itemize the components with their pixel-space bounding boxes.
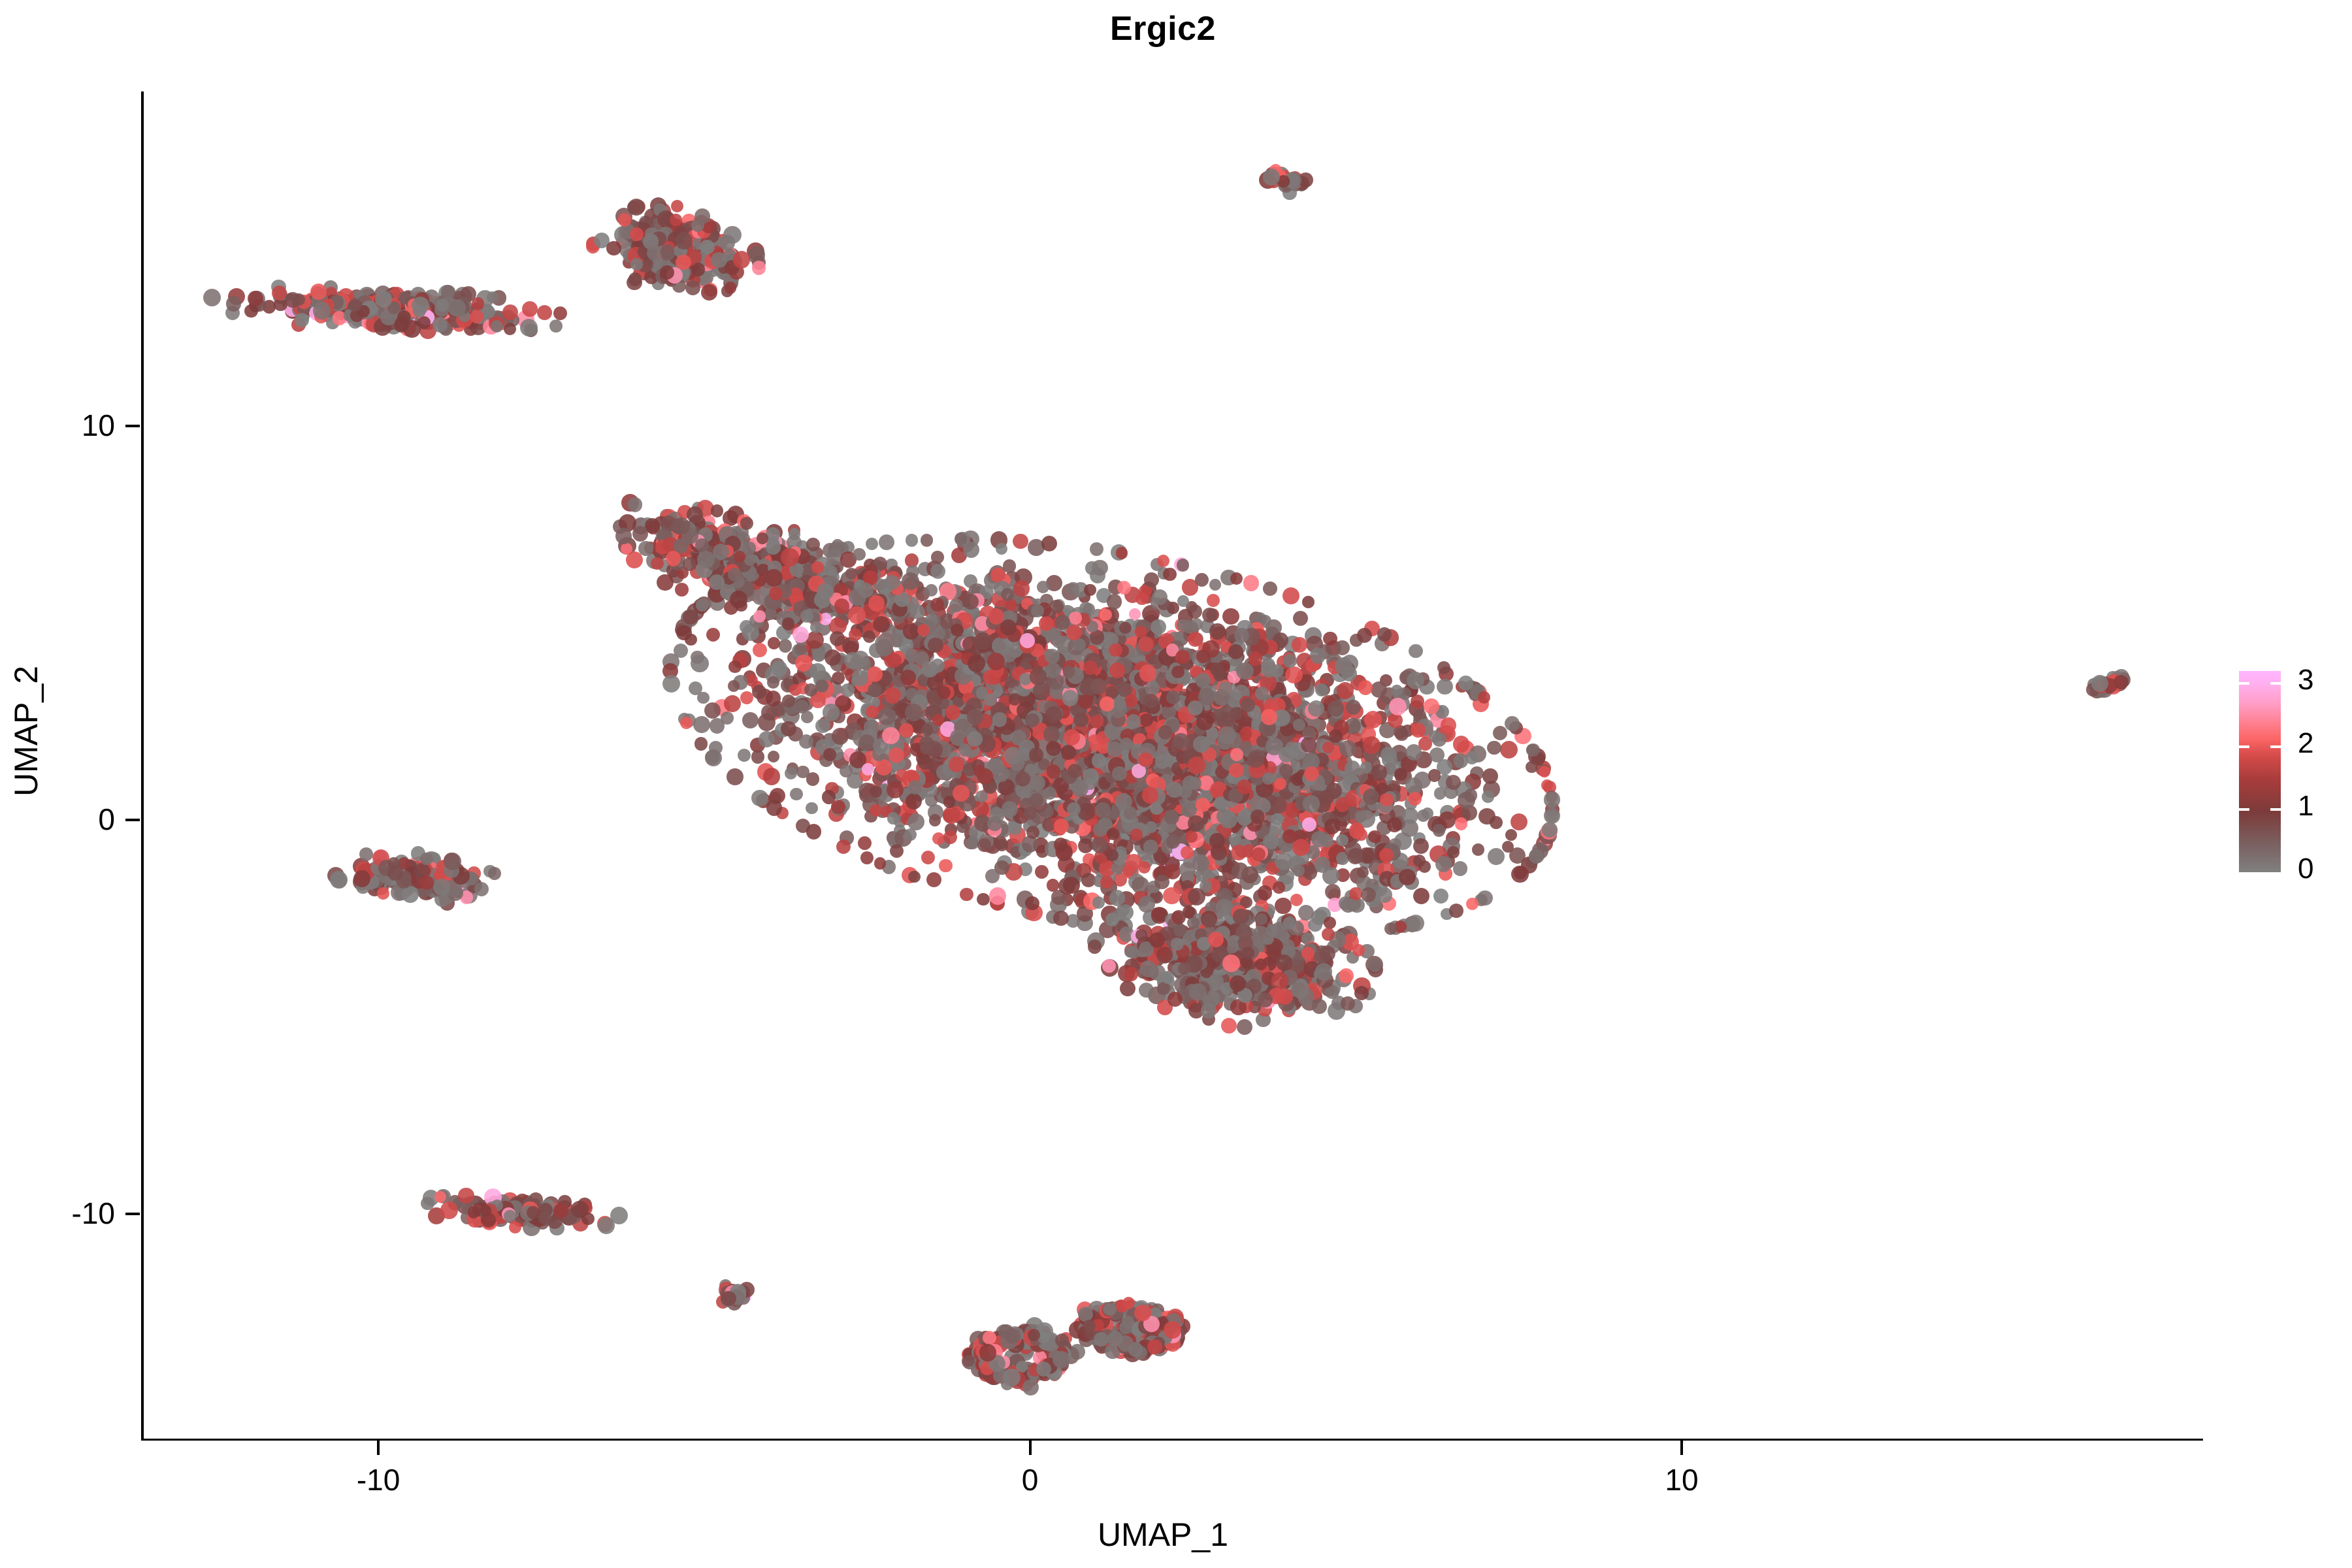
scatter-point	[960, 888, 973, 902]
scatter-point	[840, 764, 853, 777]
scatter-point	[1092, 837, 1108, 853]
scatter-point	[1114, 698, 1126, 710]
scatter-point	[751, 750, 764, 763]
scatter-point	[1337, 682, 1354, 699]
scatter-point	[1142, 787, 1158, 803]
scatter-point	[1341, 898, 1356, 913]
scatter-point	[792, 627, 809, 643]
scatter-point	[1488, 848, 1505, 865]
scatter-point	[836, 840, 851, 854]
scatter-point	[752, 261, 766, 274]
scatter-point	[1279, 764, 1293, 777]
scatter-point	[1078, 838, 1093, 853]
scatter-point	[711, 252, 727, 268]
scatter-point	[1220, 811, 1237, 828]
scatter-point	[1117, 904, 1134, 921]
scatter-point	[977, 893, 989, 906]
scatter-point	[1402, 808, 1418, 824]
scatter-point	[630, 258, 643, 270]
scatter-point	[953, 785, 970, 802]
scatter-point	[1109, 890, 1125, 906]
scatter-point	[938, 686, 951, 699]
scatter-point	[1228, 644, 1243, 659]
scatter-point	[725, 282, 737, 294]
scatter-point	[1164, 809, 1179, 824]
scatter-point	[693, 716, 710, 733]
scatter-point	[1013, 534, 1028, 549]
scatter-point	[1049, 600, 1064, 614]
scatter-point	[926, 872, 941, 887]
scatter-point	[1100, 609, 1111, 621]
scatter-point	[1542, 822, 1558, 838]
scatter-point	[987, 653, 1005, 670]
scatter-point	[1380, 793, 1394, 807]
scatter-point	[1453, 861, 1467, 875]
scatter-point	[706, 628, 720, 642]
scatter-point	[1130, 828, 1143, 841]
scatter-point	[448, 299, 466, 317]
scatter-point	[1043, 726, 1060, 743]
scatter-point	[862, 763, 874, 776]
scatter-point	[412, 297, 429, 314]
scatter-point	[1152, 589, 1168, 605]
scatter-point	[987, 816, 1002, 831]
scatter-point	[1236, 662, 1253, 679]
scatter-point	[1437, 679, 1453, 695]
scatter-point	[949, 757, 964, 772]
scatter-point	[1447, 846, 1460, 858]
scatter-point	[1424, 698, 1439, 714]
scatter-point	[1311, 831, 1328, 847]
scatter-point	[1345, 760, 1361, 777]
scatter-point	[904, 828, 917, 841]
scatter-point	[1399, 869, 1415, 885]
scatter-point	[1283, 654, 1296, 667]
scatter-point	[1368, 830, 1380, 843]
scatter-point	[671, 200, 683, 212]
scatter-point	[1455, 817, 1468, 830]
scatter-point	[1472, 843, 1484, 856]
scatter-point	[1363, 736, 1380, 754]
scatter-point	[1505, 829, 1517, 841]
scatter-point	[1009, 693, 1021, 705]
scatter-point	[766, 691, 781, 706]
scatter-point	[1163, 887, 1180, 904]
scatter-point	[676, 625, 692, 641]
scatter-point	[1487, 741, 1501, 755]
scatter-point	[1408, 792, 1422, 806]
scatter-point	[1109, 662, 1125, 678]
scatter-point	[1092, 896, 1105, 909]
scatter-point	[890, 844, 904, 858]
scatter-point	[879, 534, 894, 550]
scatter-point	[1302, 817, 1316, 832]
scatter-point	[1041, 536, 1057, 551]
scatter-point	[1025, 896, 1039, 910]
scatter-point	[1335, 640, 1350, 655]
scatter-point	[823, 748, 836, 761]
scatter-point	[1202, 608, 1217, 623]
scatter-point	[1511, 813, 1527, 830]
scatter-point	[1222, 608, 1239, 625]
scatter-point	[1000, 619, 1017, 636]
scatter-point	[1360, 761, 1373, 774]
scatter-point	[1209, 579, 1221, 591]
scatter-point	[925, 584, 938, 596]
scatter-point	[763, 768, 780, 785]
scatter-point	[967, 709, 983, 725]
scatter-point	[889, 747, 904, 763]
scatter-point	[1229, 763, 1243, 777]
scatter-point	[1037, 581, 1049, 593]
scatter-point	[1047, 764, 1061, 779]
scatter-point	[1031, 604, 1044, 617]
scatter-point	[1293, 611, 1308, 626]
scatter-point	[395, 316, 410, 331]
scatter-point	[1232, 862, 1249, 879]
scatter-point	[1308, 700, 1324, 717]
scatter-point	[1292, 637, 1307, 653]
scatter-point	[1324, 819, 1340, 834]
scatter-point	[1035, 865, 1049, 879]
scatter-point	[1154, 875, 1169, 890]
scatter-point	[921, 534, 933, 546]
scatter-point	[727, 768, 743, 785]
scatter-point	[1188, 757, 1205, 774]
scatter-point	[1357, 866, 1369, 878]
scatter-point	[417, 316, 430, 329]
scatter-point	[292, 293, 305, 306]
scatter-point	[618, 213, 632, 227]
scatter-point	[1185, 830, 1198, 843]
scatter-point	[1302, 596, 1315, 608]
scatter-point	[928, 638, 943, 653]
scatter-point	[1329, 729, 1343, 743]
scatter-point	[1263, 581, 1277, 596]
scatter-point	[849, 629, 861, 641]
scatter-point	[1446, 775, 1461, 790]
scatter-point	[1112, 766, 1126, 781]
scatter-point	[1090, 542, 1103, 556]
scatter-point	[758, 713, 776, 731]
scatter-point	[1493, 726, 1507, 740]
scatter-point	[1069, 612, 1082, 625]
scatter-point	[887, 812, 899, 824]
scatter-point	[906, 534, 919, 547]
scatter-point	[1024, 806, 1037, 820]
scatter-point	[1255, 687, 1269, 700]
scatter-point	[1196, 673, 1211, 688]
scatter-point	[746, 674, 758, 686]
scatter-point	[1230, 572, 1243, 585]
scatter-point	[628, 199, 645, 216]
scatter-point	[701, 284, 717, 301]
page-title: Ergic2	[0, 9, 2326, 48]
scatter-point	[921, 851, 935, 864]
scatter-point	[1490, 816, 1503, 829]
scatter-point	[1138, 636, 1154, 652]
scatter-point	[1544, 791, 1560, 808]
scatter-point	[1437, 661, 1450, 674]
scatter-point	[1252, 847, 1266, 861]
scatter-point	[1303, 795, 1320, 813]
scatter-point	[1433, 824, 1446, 837]
scatter-point	[1371, 764, 1388, 781]
scatter-point	[1263, 834, 1279, 850]
scatter-point	[226, 296, 242, 312]
scatter-point	[1045, 706, 1062, 723]
scatter-point	[989, 887, 1007, 905]
scatter-point	[676, 255, 691, 270]
scatter-point	[549, 319, 563, 333]
scatter-point	[1290, 894, 1303, 906]
scatter-point	[968, 655, 985, 672]
scatter-point	[1539, 766, 1550, 777]
scatter-point	[1029, 747, 1043, 762]
scatter-point	[1418, 737, 1432, 751]
scatter-point	[830, 631, 845, 646]
scatter-point	[1458, 792, 1475, 809]
scatter-point	[1177, 559, 1190, 572]
scatter-point	[874, 857, 886, 869]
scatter-point	[866, 538, 879, 551]
scatter-point	[1449, 904, 1463, 918]
scatter-point	[661, 244, 674, 258]
scatter-point	[1195, 573, 1209, 587]
scatter-point	[1122, 864, 1135, 877]
scatter-point	[931, 551, 943, 563]
scatter-point	[1218, 727, 1235, 744]
scatter-point	[1258, 885, 1273, 900]
scatter-point	[929, 814, 941, 826]
scatter-point	[1196, 713, 1214, 730]
scatter-point	[1013, 580, 1030, 597]
scatter-point	[1026, 826, 1039, 839]
scatter-point	[1002, 801, 1018, 817]
scatter-point	[1292, 864, 1305, 877]
scatter-point	[1435, 856, 1452, 872]
scatter-point	[806, 802, 818, 815]
scatter-point	[812, 648, 826, 662]
scatter-point	[692, 263, 706, 276]
scatter-point	[1310, 647, 1326, 664]
scatter-point	[689, 681, 702, 695]
scatter-point	[629, 272, 642, 286]
scatter-point	[1100, 696, 1114, 711]
scatter-point	[795, 700, 809, 713]
scatter-point	[733, 251, 750, 268]
scatter-point	[1063, 666, 1075, 678]
scatter-point	[831, 800, 845, 814]
scatter-point	[1084, 584, 1096, 596]
scatter-point	[1158, 725, 1172, 739]
scatter-point	[1143, 840, 1158, 855]
scatter-point	[704, 702, 721, 719]
scatter-point	[1529, 849, 1544, 864]
scatter-point	[1163, 568, 1177, 581]
scatter-point	[1209, 623, 1226, 640]
scatter-point	[1413, 888, 1429, 904]
scatter-point	[790, 788, 802, 800]
plot-root: Ergic2 -10010 100-10 UMAP_1 UMAP_2 3210	[0, 0, 2352, 1568]
scatter-point	[882, 727, 899, 744]
scatter-point	[721, 711, 734, 725]
scatter-point	[1433, 889, 1448, 904]
scatter-point	[768, 751, 779, 762]
scatter-point	[943, 806, 960, 823]
scatter-point	[1117, 581, 1131, 595]
scatter-point	[852, 670, 868, 686]
scatter-point	[522, 301, 538, 317]
scatter-point	[520, 319, 538, 336]
scatter-point	[1209, 833, 1225, 849]
scatter-point	[1407, 915, 1424, 932]
scatter-point	[1025, 713, 1039, 727]
scatter-point	[832, 672, 845, 685]
scatter-point	[932, 714, 944, 726]
scatter-point	[1172, 736, 1185, 749]
scatter-point	[470, 310, 483, 323]
scatter-point	[1279, 747, 1294, 762]
scatter-point	[1078, 694, 1092, 709]
scatter-point	[905, 704, 923, 721]
scatter-point	[1135, 593, 1148, 605]
scatter-point	[1409, 644, 1423, 659]
scatter-point	[1453, 736, 1470, 753]
scatter-point	[1322, 867, 1340, 885]
scatter-point	[1175, 650, 1190, 664]
scatter-point	[680, 717, 693, 730]
scatter-point	[1049, 628, 1061, 640]
scatter-point	[724, 695, 741, 712]
scatter-point	[728, 661, 741, 673]
scatter-point	[1335, 797, 1350, 812]
scatter-point	[815, 679, 828, 693]
scatter-point	[1418, 860, 1431, 873]
scatter-point	[691, 655, 708, 672]
scatter-point	[1124, 694, 1137, 707]
scatter-point	[1261, 661, 1277, 678]
scatter-point	[1389, 698, 1407, 715]
scatter-point	[1387, 817, 1402, 832]
scatter-point	[887, 781, 904, 798]
scatter-point	[705, 749, 722, 766]
scatter-point	[537, 305, 552, 320]
scatter-point	[878, 708, 896, 725]
scatter-point	[1157, 555, 1169, 567]
scatter-point	[662, 675, 680, 693]
scatter-point	[295, 313, 309, 327]
scatter-point	[1247, 751, 1264, 768]
scatter-point	[963, 542, 979, 558]
scatter-point	[1347, 848, 1364, 864]
scatter-point	[1092, 753, 1106, 768]
scatter-point	[875, 759, 892, 776]
scatter-point	[858, 836, 872, 850]
scatter-point	[1181, 801, 1197, 817]
scatter-point	[491, 320, 503, 333]
scatter-point	[779, 639, 792, 653]
scatter-point	[781, 721, 796, 736]
scatter-point	[921, 661, 938, 678]
scatter-point	[313, 302, 331, 319]
scatter-point	[973, 765, 986, 777]
scatter-point	[885, 687, 900, 703]
scatter-point	[1358, 680, 1373, 695]
scatter-point	[1196, 798, 1210, 812]
scatter-point	[1377, 887, 1392, 902]
scatter-point	[992, 765, 1009, 782]
scatter-point	[1116, 547, 1128, 559]
scatter-point	[694, 208, 710, 224]
scatter-point	[899, 723, 913, 738]
scatter-point	[1361, 887, 1376, 902]
scatter-point	[630, 227, 643, 240]
scatter-point	[1526, 743, 1539, 757]
scatter-point	[742, 712, 759, 728]
scatter-point	[1230, 707, 1243, 719]
scatter-point	[1045, 649, 1060, 664]
scatter-point	[806, 631, 824, 649]
scatter-point	[1482, 791, 1494, 803]
scatter-point	[1273, 881, 1285, 894]
scatter-point	[1063, 877, 1080, 894]
scatter-point	[1428, 769, 1441, 781]
scatter-point	[1380, 747, 1396, 762]
scatter-point	[955, 532, 967, 545]
scatter-point	[939, 859, 952, 872]
scatter-point	[1322, 742, 1334, 753]
scatter-point	[996, 543, 1007, 555]
scatter-point	[1336, 834, 1348, 846]
scatter-point	[759, 731, 775, 747]
scatter-point	[1285, 666, 1302, 683]
scatter-point	[906, 793, 922, 809]
scatter-point	[1144, 572, 1159, 587]
scatter-point	[753, 643, 767, 657]
scatter-point	[870, 785, 882, 798]
scatter-point	[809, 663, 826, 679]
scatter-point	[1085, 561, 1098, 574]
scatter-point	[1250, 809, 1265, 824]
scatter-point	[974, 632, 992, 650]
scatter-point	[606, 241, 621, 255]
scatter-point	[1095, 802, 1110, 817]
scatter-point	[977, 838, 991, 852]
scatter-point	[1511, 866, 1529, 883]
scatter-point	[1188, 815, 1204, 832]
scatter-point	[1335, 657, 1352, 675]
scatter-point	[676, 232, 693, 249]
scatter-point	[1395, 728, 1409, 742]
scatter-point	[1282, 829, 1297, 843]
scatter-point	[1214, 689, 1230, 706]
scatter-point	[823, 704, 840, 721]
scatter-point	[772, 661, 787, 676]
scatter-point	[1066, 625, 1082, 640]
scatter-point	[920, 742, 933, 755]
scatter-point	[860, 851, 874, 864]
scatter-point	[806, 824, 821, 839]
scatter-point	[868, 683, 881, 697]
scatter-point	[1526, 761, 1538, 774]
scatter-plot-panel	[144, 91, 2203, 1439]
scatter-point	[767, 676, 779, 689]
scatter-point	[1029, 775, 1045, 791]
scatter-point	[1090, 678, 1107, 694]
scatter-point	[310, 284, 327, 300]
scatter-point	[1465, 751, 1478, 764]
